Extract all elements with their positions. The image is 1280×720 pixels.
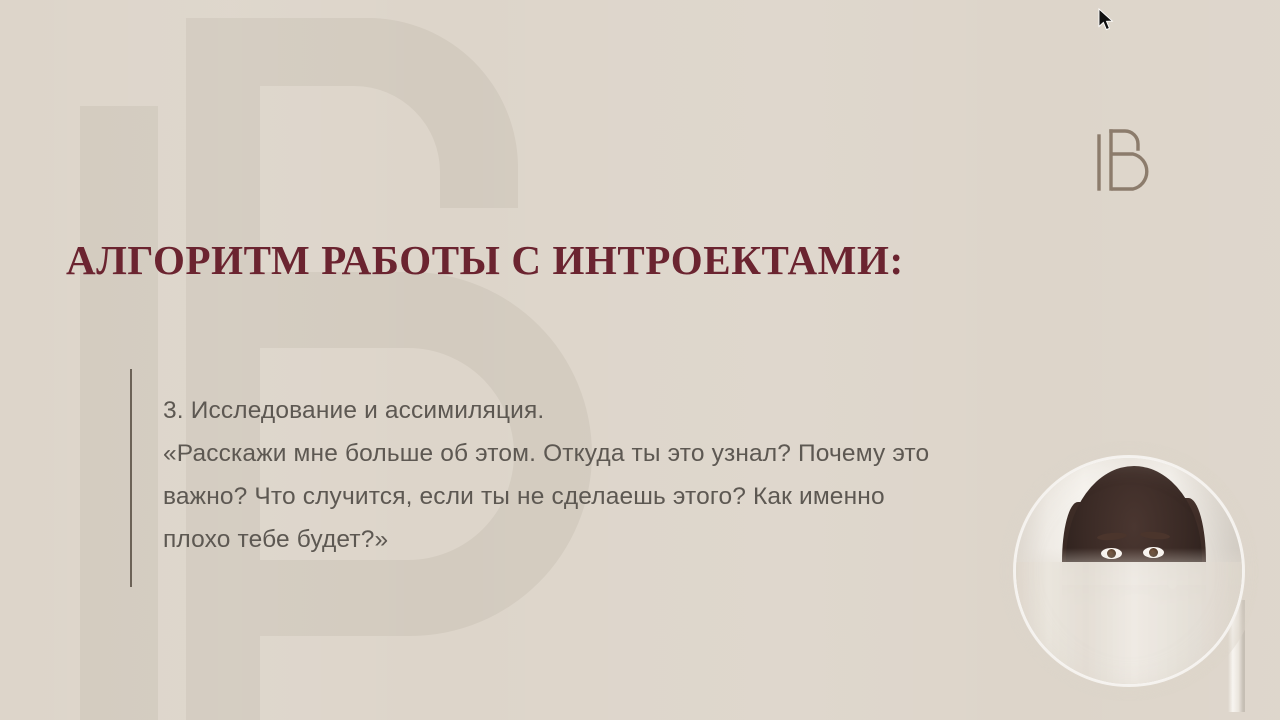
webcam-video [1016, 458, 1242, 684]
slide-body-block: 3. Исследование и ассимиляция. «Расскажи… [130, 369, 1090, 587]
monogram-watermark [62, 10, 702, 720]
mouse-cursor [1098, 8, 1116, 32]
presentation-slide: АЛГОРИТМ РАБОТЫ С ИНТРОЕКТАМИ: 3. Исслед… [0, 0, 1280, 720]
monogram-logo [1092, 118, 1164, 192]
accent-rule [130, 369, 132, 587]
body-lead-line: 3. Исследование и ассимиляция. [163, 389, 929, 432]
body-quote-line-3: плохо тебе будет?» [163, 526, 388, 553]
presenter-webcam[interactable] [1013, 455, 1245, 687]
slide-title: АЛГОРИТМ РАБОТЫ С ИНТРОЕКТАМИ: [66, 238, 904, 283]
webcam-fade [1016, 562, 1242, 684]
body-quote-line-1: «Расскажи мне больше об этом. Откуда ты … [163, 440, 929, 467]
webcam-ring [1013, 455, 1245, 687]
body-quote-line-2: важно? Что случится, если ты не сделаешь… [163, 483, 885, 510]
slide-body-text: 3. Исследование и ассимиляция. «Расскажи… [163, 369, 929, 587]
